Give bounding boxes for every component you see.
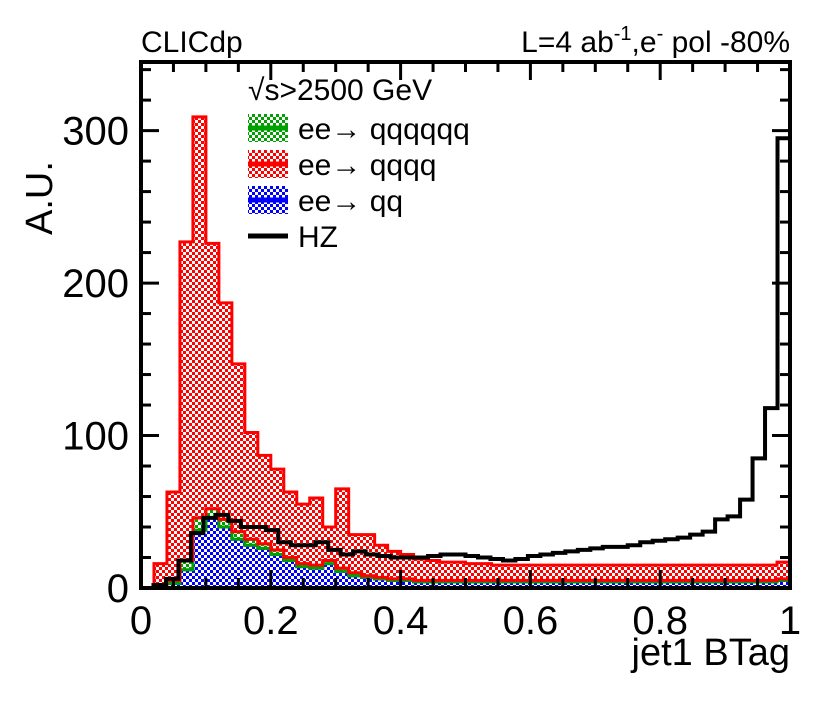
legend-label-qqqqqq: ee→ qqqqqq bbox=[298, 113, 470, 146]
y-tick-label: 300 bbox=[62, 110, 129, 154]
polarisation-exponent: - bbox=[657, 23, 664, 45]
x-tick-label: 0.6 bbox=[503, 599, 559, 643]
polarisation-main-text: ,e bbox=[632, 26, 657, 59]
plot-canvas: CLICdp L=4 ab-1,e- pol -80% 00.20.40.60.… bbox=[0, 0, 830, 703]
polarisation-rest-text: pol -80% bbox=[663, 26, 790, 59]
luminosity-main-text: L=4 ab bbox=[521, 26, 614, 59]
y-tick-label: 100 bbox=[62, 415, 129, 459]
x-tick-label: 0.2 bbox=[243, 599, 299, 643]
y-tick-label: 0 bbox=[107, 567, 129, 611]
legend-label-HZ: HZ bbox=[298, 221, 338, 254]
x-tick-label: 0.4 bbox=[373, 599, 429, 643]
legend-header: √s>2500 GeV bbox=[248, 74, 432, 107]
legend-entry-qq[interactable]: ee→ qq bbox=[248, 185, 403, 218]
x-tick-label: 0 bbox=[130, 599, 152, 643]
luminosity-exponent: -1 bbox=[614, 23, 632, 45]
legend-entry-qqqq[interactable]: ee→ qqqq bbox=[248, 149, 436, 182]
x-axis-title: jet1 BTag bbox=[631, 632, 790, 674]
legend-entry-qqqqqq[interactable]: ee→ qqqqqq bbox=[248, 113, 470, 146]
legend-label-qq: ee→ qq bbox=[298, 185, 403, 218]
collaboration-label: CLICdp bbox=[141, 26, 243, 59]
y-axis-title: A.U. bbox=[19, 161, 61, 235]
y-tick-label: 200 bbox=[62, 262, 129, 306]
root-figure: CLICdp L=4 ab-1,e- pol -80% 00.20.40.60.… bbox=[0, 0, 830, 703]
luminosity-polarisation-label: L=4 ab-1,e- pol -80% bbox=[521, 23, 790, 59]
legend-label-qqqq: ee→ qqqq bbox=[298, 149, 436, 182]
